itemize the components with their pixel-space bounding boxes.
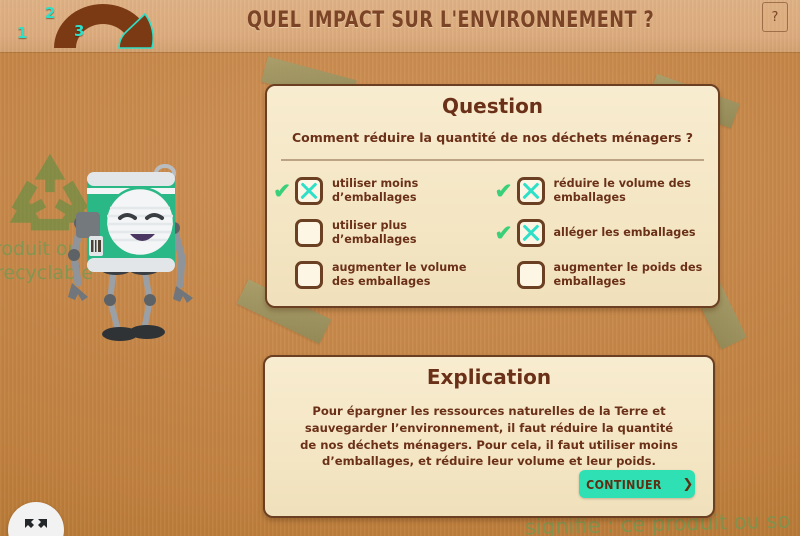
continue-button[interactable]: CONTINUER ❯ — [579, 470, 695, 498]
correct-check-icon: ✔ — [493, 181, 515, 202]
options-grid: ✔ utiliser moins d’emballages ✔ réduire … — [267, 161, 718, 295]
checkbox-augmenter-poids-emballages[interactable] — [517, 261, 545, 289]
option-row[interactable]: ✔ augmenter le poids des emballages — [493, 255, 709, 295]
correct-check-icon: ✔ — [271, 181, 293, 202]
explication-panel-title: Explication — [265, 365, 713, 389]
checkbox-augmenter-volume-emballages[interactable] — [295, 261, 323, 289]
correct-check-icon: ✔ — [493, 223, 515, 244]
progress-step-3: 3 — [74, 22, 84, 40]
fullscreen-button[interactable] — [8, 502, 64, 536]
explication-panel: Explication Pour épargner les ressources… — [263, 355, 715, 518]
question-prompt: Comment réduire la quantité de nos déche… — [267, 130, 718, 145]
progress-step-2: 2 — [45, 4, 55, 22]
option-label: alléger les emballages — [554, 226, 696, 240]
help-button[interactable]: ? — [762, 2, 788, 32]
checkbox-reduire-volume-emballages[interactable] — [517, 177, 545, 205]
fullscreen-expand-icon — [23, 517, 49, 536]
explication-text: Pour épargner les ressources naturelles … — [265, 389, 713, 470]
chevron-right-icon: ❯ — [682, 477, 693, 492]
option-row[interactable]: ✔ alléger les emballages — [493, 213, 709, 253]
checkbox-utiliser-moins-emballages[interactable] — [295, 177, 323, 205]
option-label: réduire le volume des emballages — [554, 177, 709, 204]
continue-button-label: CONTINUER — [586, 477, 662, 492]
can-robot-character — [52, 150, 212, 350]
game-stage: roduit ou ce recyclable signifie : ce pr… — [0, 0, 800, 536]
checkbox-alleger-emballages[interactable] — [517, 219, 545, 247]
page-title: QUEL IMPACT SUR L'ENVIRONNEMENT ? — [247, 8, 583, 33]
option-row[interactable]: ✔ augmenter le volume des emballages — [271, 255, 487, 295]
question-panel: Question Comment réduire la quantité de … — [265, 84, 720, 308]
option-row[interactable]: ✔ utiliser moins d’emballages — [271, 171, 487, 211]
question-divider — [281, 159, 704, 161]
option-row[interactable]: ✔ réduire le volume des emballages — [493, 171, 709, 211]
option-label: utiliser plus d’emballages — [332, 219, 487, 246]
option-label: utiliser moins d’emballages — [332, 177, 487, 204]
option-label: augmenter le volume des emballages — [332, 261, 487, 288]
option-label: augmenter le poids des emballages — [554, 261, 709, 288]
progress-step-1: 1 — [17, 24, 27, 42]
checkbox-utiliser-plus-emballages[interactable] — [295, 219, 323, 247]
header-band: 1 2 3 QUEL IMPACT SUR L'ENVIRONNEMENT ? … — [0, 0, 800, 52]
option-row[interactable]: ✔ utiliser plus d’emballages — [271, 213, 487, 253]
progress-gauge — [48, 2, 158, 50]
question-panel-title: Question — [267, 94, 718, 118]
